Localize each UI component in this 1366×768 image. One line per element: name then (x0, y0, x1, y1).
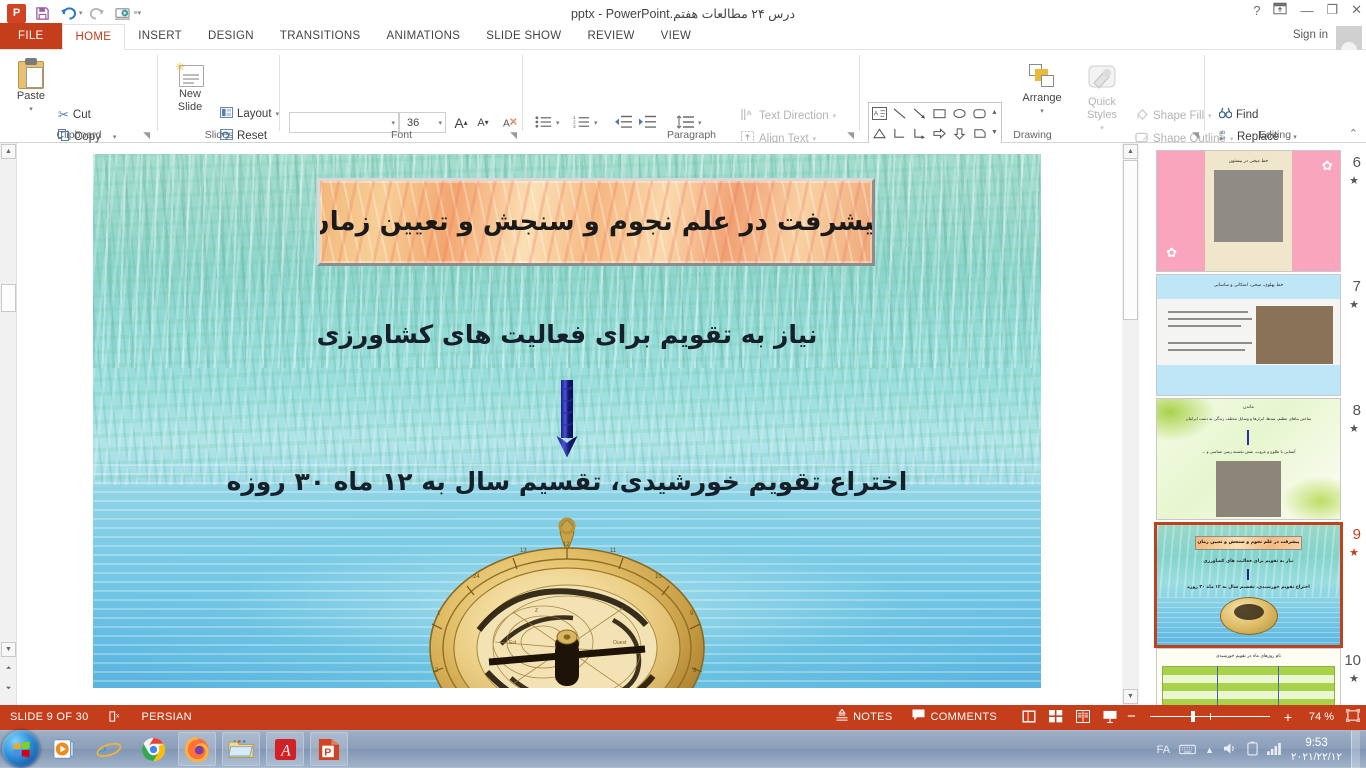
window-controls: ? — ❐ ✕ (1253, 2, 1362, 18)
powerpoint-window: P ▾ ≡▾ درس ۲۴ مطالعات هفتم.pptx - PowerP… (0, 0, 1366, 768)
slide-scroll-down-button[interactable]: ▼ (1123, 689, 1138, 704)
tab-animations[interactable]: ANIMATIONS (374, 23, 474, 49)
ribbon-group-clipboard: Paste ▾ ✂ Cut Copy ▾ 🖌 Format Painter Cl… (0, 50, 158, 143)
slides-group-label: Slides (158, 129, 280, 141)
paragraph-dialog-launcher[interactable]: ◥ (847, 130, 854, 141)
thumbnail-number-10: 10 (1341, 652, 1361, 669)
shape-fill-icon (1135, 108, 1149, 124)
bullets-dropdown-icon[interactable]: ▾ (556, 119, 560, 127)
cut-label: Cut (73, 109, 91, 121)
svg-text:24: 24 (473, 574, 480, 580)
slide-scroll-thumb[interactable] (1123, 160, 1138, 320)
network-bars-icon[interactable] (1267, 742, 1282, 758)
svg-text:P: P (324, 746, 331, 758)
svg-text:10: 10 (655, 574, 662, 580)
font-dialog-launcher[interactable]: ◥ (510, 130, 517, 141)
thumbnail-slide-10[interactable]: نام روزهای ماه در تقویم خورشیدی (1156, 648, 1341, 705)
reading-view-button[interactable] (1069, 705, 1096, 728)
arrange-dropdown-icon[interactable]: ▾ (1040, 105, 1044, 118)
slideshow-view-button[interactable] (1096, 705, 1123, 728)
thumbnail-number-9: 9 (1341, 526, 1361, 543)
tab-review[interactable]: REVIEW (574, 23, 647, 49)
astrolabe-image[interactable]: 121110 987 654 321 2413 (417, 512, 717, 688)
paste-label: Paste (17, 90, 45, 103)
quick-styles-icon (1085, 64, 1119, 96)
microsoft-powerpoint-icon[interactable]: P (310, 732, 348, 766)
paste-button[interactable]: Paste ▾ (8, 58, 54, 116)
svg-text:Est: Est (509, 640, 517, 646)
arrange-icon (1029, 64, 1055, 88)
ribbon-group-drawing: A { } ▲ ▼ ▼ (860, 50, 1205, 143)
ribbon-display-options-button[interactable] (1273, 2, 1287, 18)
windows-media-player-icon[interactable] (46, 732, 84, 766)
new-slide-icon: ✳ (175, 62, 205, 88)
ribbon-group-font: ▾ 36 ▾ A▴ A▾ A B I U S abc AV↔ ▾ (280, 50, 523, 143)
new-slide-label-2: Slide (178, 101, 202, 114)
svg-text:A: A (280, 742, 291, 759)
paste-icon (16, 58, 46, 90)
slide-title-text: پیشرفت در علم نجوم و سنجش و تعیین زمان (317, 207, 875, 237)
line-shape-icon[interactable] (892, 107, 907, 120)
paste-dropdown-icon[interactable]: ▾ (29, 103, 33, 116)
tab-transitions[interactable]: TRANSITIONS (267, 23, 374, 49)
line-spacing-dropdown-icon[interactable]: ▾ (698, 119, 702, 127)
font-size-dropdown-icon[interactable]: ▾ (438, 119, 442, 127)
slide-body-line-1[interactable]: نیاز به تقویم برای فعالیت های کشاورزی (93, 320, 1041, 349)
thumbnail-slide-6[interactable]: خط میخی در بیستون ✿ ✿ (1156, 150, 1341, 272)
thumbnail-animation-icon-8[interactable]: ★ (1349, 422, 1359, 435)
scroll-down-button[interactable]: ▼ (1, 642, 16, 657)
notes-label: NOTES (853, 711, 892, 723)
font-group-label: Font (280, 129, 523, 141)
slide-editing-pane[interactable]: پیشرفت در علم نجوم و سنجش و تعیین زمان ن… (17, 143, 1130, 705)
arrange-label: Arrange (1022, 92, 1061, 105)
normal-view-button[interactable] (1015, 705, 1042, 728)
binoculars-icon (1219, 107, 1232, 122)
shapes-scroll-up-icon[interactable]: ▲ (991, 109, 998, 116)
new-slide-label-1: New (179, 88, 201, 101)
sign-in-link[interactable]: Sign in (1293, 29, 1328, 41)
keyboard-icon[interactable] (1179, 743, 1196, 758)
tab-slide-show[interactable]: SLIDE SHOW (473, 23, 574, 49)
file-explorer-icon[interactable] (222, 732, 260, 766)
spell-check-icon[interactable]: x (99, 705, 132, 728)
clock-time: 9:53 (1291, 736, 1342, 750)
mozilla-firefox-icon[interactable] (178, 732, 216, 766)
textbox-shape-icon[interactable]: A (872, 107, 887, 120)
thumbnail-number-6: 6 (1341, 154, 1361, 171)
zoom-slider[interactable] (1150, 716, 1270, 718)
google-chrome-icon[interactable] (134, 732, 172, 766)
clock-date: ۲۰۲۱/۲۲/۱۲ (1291, 750, 1342, 764)
collapse-ribbon-button[interactable]: ⌃ (1349, 127, 1358, 140)
drawing-dialog-launcher[interactable]: ◥ (1192, 130, 1199, 141)
scissors-icon: ✂ (58, 107, 69, 123)
thumbnail-slide-8[interactable]: ماندن ساختن بناهای عظیم، سدها، ابزارها و… (1156, 398, 1341, 520)
notes-icon (836, 709, 848, 724)
clock[interactable]: 9:53 ۲۰۲۱/۲۲/۱۲ (1291, 736, 1342, 764)
find-button[interactable]: Find (1219, 107, 1258, 122)
zoom-slider-thumb[interactable] (1191, 711, 1195, 722)
quick-styles-label-1: Quick (1088, 96, 1116, 109)
language-indicator[interactable]: PERSIAN (132, 705, 202, 728)
svg-text:A: A (503, 118, 510, 129)
scroll-up-button[interactable]: ▲ (1, 144, 16, 159)
shape-fill-button[interactable]: Shape Fill ▾ (1135, 108, 1212, 124)
thumbnail-title-10: نام روزهای ماه در تقویم خورشیدی (1157, 654, 1340, 659)
internet-explorer-icon[interactable]: e (90, 732, 128, 766)
down-arrow-shape[interactable] (556, 380, 578, 458)
windows-start-button[interactable] (2, 730, 40, 768)
ribbon-group-slides: ✳ New Slide Layout ▾ Reset Section ▾ Sli… (158, 50, 280, 143)
system-tray: FA ▲ 9:53 ۲۰۲۱/۲۲/۱۲ (1157, 730, 1366, 768)
previous-slide-button[interactable]: ⏶ (1, 661, 16, 676)
ribbon-group-editing: Find abac Replace ▾ Select ▾ Editing (1205, 50, 1345, 143)
slide-title-banner[interactable]: پیشرفت در علم نجوم و سنجش و تعیین زمان (317, 178, 875, 266)
clipboard-group-label: Clipboard (0, 129, 158, 141)
slide-canvas[interactable]: پیشرفت در علم نجوم و سنجش و تعیین زمان ن… (93, 154, 1041, 688)
quick-styles-button[interactable]: Quick Styles ▾ (1072, 64, 1132, 135)
shape-fill-label: Shape Fill (1153, 110, 1204, 122)
thumbnail-animation-icon-10[interactable]: ★ (1349, 672, 1359, 685)
next-slide-button[interactable]: ⏷ (1, 681, 16, 696)
quick-styles-label-2: Styles (1087, 109, 1117, 122)
layout-button[interactable]: Layout ▾ (220, 107, 279, 121)
minimize-button[interactable]: — (1300, 3, 1313, 18)
svg-text:11: 11 (610, 548, 617, 554)
comments-label: COMMENTS (930, 711, 997, 723)
svg-text:x: x (115, 712, 119, 719)
tab-home[interactable]: HOME (62, 24, 126, 50)
notes-button[interactable]: NOTES (826, 705, 902, 728)
restore-button[interactable]: ❐ (1326, 2, 1338, 18)
fit-slide-to-window-button[interactable] (1342, 709, 1360, 725)
tab-design[interactable]: DESIGN (195, 23, 267, 49)
oval-shape-icon[interactable] (952, 107, 967, 120)
tab-file[interactable]: FILE (0, 23, 62, 49)
slide-sorter-view-button[interactable] (1042, 705, 1069, 728)
comment-icon (912, 709, 925, 724)
tab-view[interactable]: VIEW (648, 23, 705, 49)
text-direction-icon: A (741, 108, 755, 124)
svg-text:Ouest: Ouest (613, 640, 627, 646)
zoom-in-button[interactable]: + (1284, 712, 1292, 722)
show-desktop-button[interactable] (1351, 731, 1360, 768)
show-hidden-icons-button[interactable]: ▲ (1205, 745, 1214, 755)
layout-icon (220, 107, 233, 121)
rounded-rectangle-shape-icon[interactable] (972, 107, 987, 120)
slide-body-line-2[interactable]: اختراع تقویم خورشیدی، تقسیم سال به ۱۲ ما… (93, 467, 1041, 496)
thumbnail-title-7: خط پهلوی، میخی، اشکانی و ساسانی (1157, 283, 1340, 288)
ribbon-group-paragraph: ▾ 123 ▾ ▾ (523, 50, 860, 143)
document-title: درس ۲۴ مطالعات هفتم.pptx - PowerPoint (0, 6, 1366, 21)
svg-text:A: A (747, 108, 752, 117)
comments-button[interactable]: COMMENTS (902, 705, 1007, 728)
scroll-thumb[interactable] (1, 284, 16, 312)
find-label: Find (1236, 109, 1258, 121)
thumbnail-title-8: ماندن (1157, 405, 1340, 410)
tab-insert[interactable]: INSERT (125, 23, 195, 49)
status-bar: SLIDE 9 OF 30 x PERSIAN NOTES COMMENTS − (0, 705, 1366, 728)
text-direction-dropdown-icon[interactable]: ▾ (833, 112, 837, 120)
drawing-group-label: Drawing (860, 129, 1205, 141)
svg-text:12: 12 (563, 542, 570, 548)
editing-group-label: Editing (1205, 129, 1345, 141)
thumbnail-animation-icon-9[interactable]: ★ (1349, 546, 1359, 559)
battery-icon[interactable] (1247, 741, 1258, 759)
input-language-indicator[interactable]: FA (1157, 744, 1170, 756)
svg-text:A: A (873, 110, 878, 117)
avatar[interactable] (1336, 26, 1362, 50)
slide-counter[interactable]: SLIDE 9 OF 30 (0, 705, 99, 728)
ribbon-tabs: FILE HOME INSERT DESIGN TRANSITIONS ANIM… (0, 24, 1366, 50)
svg-text:Z: Z (535, 608, 538, 614)
adobe-acrobat-reader-icon[interactable]: A (266, 732, 304, 766)
thumbnail-number-7: 7 (1341, 278, 1361, 295)
outline-scrollbar[interactable]: ▲ ▼ ⏶ ⏷ (0, 143, 17, 705)
paragraph-group-label: Paragraph (523, 129, 860, 141)
close-button[interactable]: ✕ (1351, 2, 1362, 18)
numbering-dropdown-icon[interactable]: ▾ (594, 119, 598, 127)
windows-taskbar: e A P FA (0, 728, 1366, 768)
layout-label: Layout (237, 108, 272, 120)
zoom-out-button[interactable]: − (1127, 712, 1136, 722)
slide-scroll-up-button[interactable]: ▲ (1123, 144, 1138, 159)
thumbnail-animation-icon-7[interactable]: ★ (1349, 298, 1359, 311)
arrange-button[interactable]: Arrange ▾ (1012, 64, 1072, 118)
font-name-dropdown-icon[interactable]: ▾ (391, 119, 395, 127)
font-size-value: 36 (407, 117, 419, 129)
slide-pane-scrollbar[interactable]: ▲ ▼ (1122, 143, 1139, 705)
clipboard-dialog-launcher[interactable]: ◥ (143, 130, 150, 141)
speaker-icon[interactable] (1223, 742, 1238, 758)
slide-thumbnail-pane[interactable]: خط میخی در بیستون ✿ ✿ 6 ★ خط پهلوی، میخی… (1139, 143, 1366, 705)
text-direction-button[interactable]: A Text Direction ▾ (741, 108, 836, 124)
new-slide-button[interactable]: ✳ New Slide (164, 62, 216, 114)
zoom-level[interactable]: 74 % (1300, 711, 1334, 723)
rectangle-shape-icon[interactable] (932, 107, 947, 120)
ribbon: Paste ▾ ✂ Cut Copy ▾ 🖌 Format Painter Cl… (0, 50, 1366, 143)
cut-button[interactable]: ✂ Cut (58, 107, 91, 123)
arrow-shape-icon[interactable] (912, 107, 927, 120)
thumbnail-number-8: 8 (1341, 402, 1361, 419)
svg-text:13: 13 (520, 548, 527, 554)
thumbnail-title-9: پیشرفت در علم نجوم و سنجش و تعیین زمان (1198, 540, 1300, 545)
help-button[interactable]: ? (1253, 3, 1260, 18)
thumbnail-animation-icon-6[interactable]: ★ (1349, 174, 1359, 187)
thumbnail-slide-7[interactable]: خط پهلوی، میخی، اشکانی و ساسانی (1156, 274, 1341, 396)
text-direction-label: Text Direction (759, 110, 829, 122)
thumbnail-slide-9[interactable]: پیشرفت در علم نجوم و سنجش و تعیین زمان ن… (1154, 522, 1343, 648)
